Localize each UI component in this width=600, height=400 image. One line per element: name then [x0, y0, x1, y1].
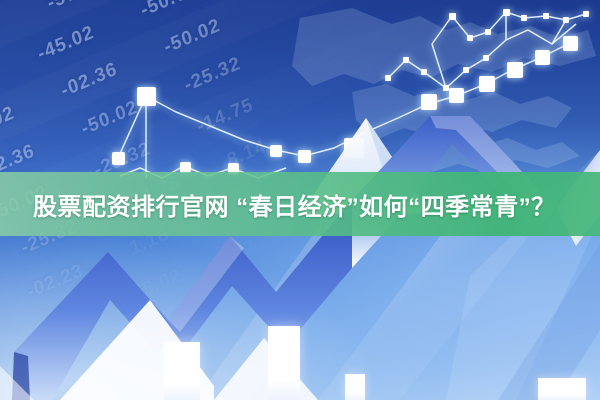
chart-bar [538, 378, 586, 400]
chart-bar [268, 326, 300, 400]
banner-image: -45.02-11.25-45.02-02.36-50.02-50.022.36… [0, 0, 600, 400]
banner-title: 股票配资排行官网 “春日经济”如何“四季常青”？ [0, 187, 556, 222]
title-band: 股票配资排行官网 “春日经济”如何“四季常青”？ [0, 172, 600, 236]
chart-bar [164, 342, 200, 400]
chart-bar [345, 374, 365, 400]
